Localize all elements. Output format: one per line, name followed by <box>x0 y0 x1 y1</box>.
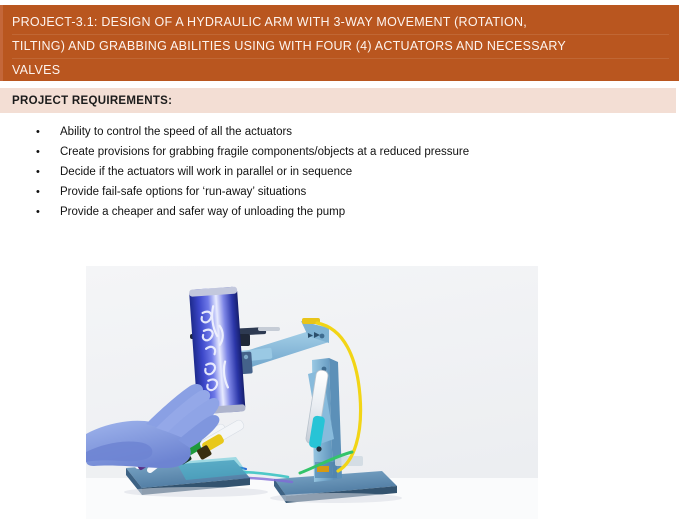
bullet-icon: • <box>36 202 40 222</box>
project-title-banner: PROJECT-3.1: DESIGN OF A HYDRAULIC ARM W… <box>0 5 679 81</box>
project-title-line-3: VALVES <box>12 58 669 82</box>
shadow-right <box>270 493 402 503</box>
list-item-label: Decide if the actuators will work in par… <box>60 166 352 178</box>
bullet-icon: • <box>36 182 40 202</box>
project-title-line-2: TILTING) AND GRABBING ABILITIES USING WI… <box>12 34 669 58</box>
project-requirements-label: PROJECT REQUIREMENTS: <box>12 95 172 107</box>
list-item: • Decide if the actuators will work in p… <box>0 162 679 182</box>
project-requirements-list: • Ability to control the speed of all th… <box>0 122 679 222</box>
list-item-label: Create provisions for grabbing fragile c… <box>60 146 469 158</box>
project-title-line-1: PROJECT-3.1: DESIGN OF A HYDRAULIC ARM W… <box>12 11 669 34</box>
list-item-label: Provide a cheaper and safer way of unloa… <box>60 206 345 218</box>
list-item: • Provide fail-safe options for ‘run-awa… <box>0 182 679 202</box>
bullet-icon: • <box>36 162 40 182</box>
list-item: • Create provisions for grabbing fragile… <box>0 142 679 162</box>
shadow-left <box>124 487 268 497</box>
list-item-label: Ability to control the speed of all the … <box>60 126 292 138</box>
bullet-icon: • <box>36 122 40 142</box>
project-requirements-header: PROJECT REQUIREMENTS: <box>0 88 676 113</box>
hydraulic-arm-photo <box>86 266 538 519</box>
hydraulic-arm-illustration <box>86 266 538 519</box>
list-item-label: Provide fail-safe options for ‘run-away’… <box>60 186 306 198</box>
list-item: • Ability to control the speed of all th… <box>0 122 679 142</box>
list-item: • Provide a cheaper and safer way of unl… <box>0 202 679 222</box>
bullet-icon: • <box>36 142 40 162</box>
